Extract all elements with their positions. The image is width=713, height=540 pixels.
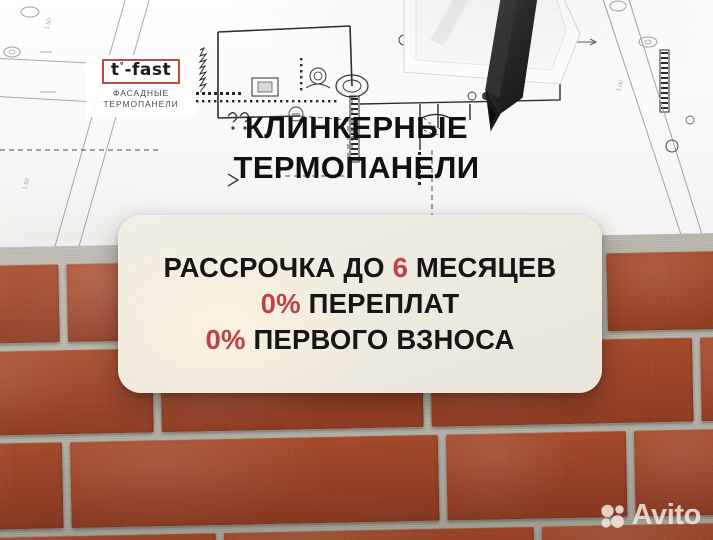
logo-mark: t°-fast <box>102 59 180 84</box>
avito-brand-text: Avito <box>632 501 701 530</box>
advertisement-image: 1.50 1.50 <box>0 0 713 540</box>
offer-line1-prefix: РАССРОЧКА ДО <box>164 252 393 283</box>
brick <box>0 442 64 531</box>
page-title: КЛИНКЕРНЫЕ ТЕРМОПАНЕЛИ <box>0 108 713 187</box>
offer-downpayment-percent: 0% <box>205 324 245 355</box>
headline-line-2: ТЕРМОПАНЕЛИ <box>0 148 713 188</box>
offer-line2-suffix: ПЕРЕПЛАТ <box>301 288 460 319</box>
offer-line3-suffix: ПЕРВОГО ВЗНОСА <box>246 324 515 355</box>
offer-line-no-downpayment: 0% ПЕРВОГО ВЗНОСА <box>205 322 514 358</box>
headline-line-1: КЛИНКЕРНЫЕ <box>0 108 713 148</box>
offer-line1-suffix: МЕСЯЦЕВ <box>408 252 556 283</box>
offer-line-no-overpayment: 0% ПЕРЕПЛАТ <box>261 286 460 322</box>
avito-dots-icon <box>600 503 626 529</box>
logo-subtitle-line1: ФАСАДНЫЕ <box>86 88 196 99</box>
offer-months-value: 6 <box>393 252 409 283</box>
brick <box>700 335 713 421</box>
offer-overpayment-percent: 0% <box>261 288 301 319</box>
offer-line-installment: РАССРОЧКА ДО 6 МЕСЯЦЕВ <box>164 250 557 286</box>
offer-card: РАССРОЧКА ДО 6 МЕСЯЦЕВ 0% ПЕРЕПЛАТ 0% ПЕ… <box>118 215 602 393</box>
logo-word-fast: -fast <box>124 60 171 80</box>
avito-watermark: Avito <box>600 501 701 530</box>
brick <box>0 264 60 345</box>
brick <box>606 249 713 331</box>
brick <box>70 435 440 528</box>
